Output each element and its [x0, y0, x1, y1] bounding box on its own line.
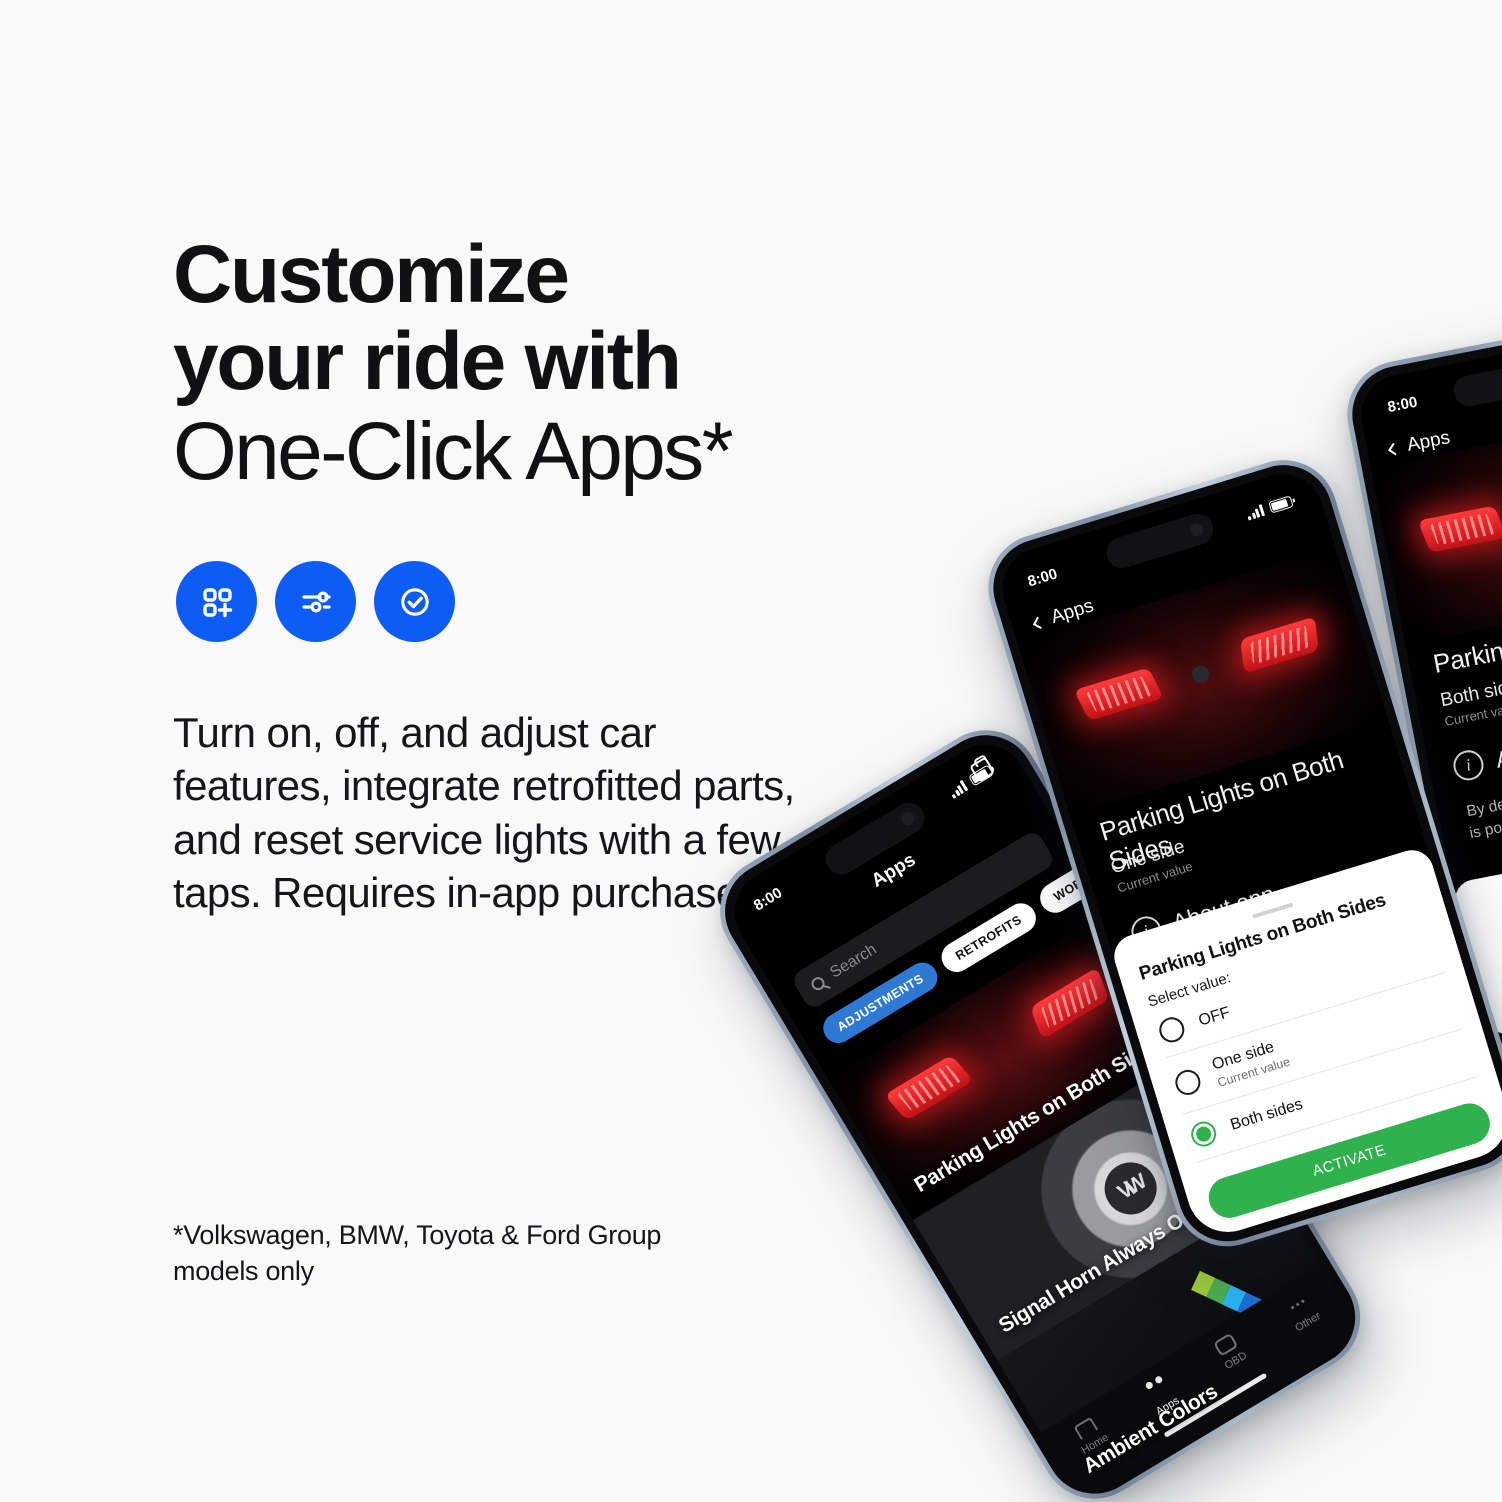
- apps-icon: [1143, 1375, 1170, 1402]
- page-title: Customize your ride with One-Click Apps*: [173, 232, 933, 498]
- status-time: 8:00: [1386, 393, 1419, 415]
- other-icon: [1283, 1290, 1310, 1317]
- hero-body-text: Turn on, off, and adjust car features, i…: [173, 706, 813, 919]
- headline-line-1: Customize: [173, 232, 933, 319]
- info-icon: i: [1451, 748, 1486, 783]
- select-value-sheet: Parking Lights on Both Sides Select valu…: [1109, 845, 1502, 1242]
- promo-canvas: Customize your ride with One-Click Apps*: [0, 0, 1502, 1502]
- option-label-both-sides: Both sides: [1228, 1095, 1304, 1133]
- chevron-left-icon: [1388, 442, 1400, 454]
- headline-line-3: One-Click Apps*: [173, 406, 933, 498]
- taillight-left: [1074, 668, 1164, 722]
- sliders-icon: [275, 561, 356, 642]
- sheet-grabber[interactable]: [1252, 903, 1293, 919]
- taillight-left: [1418, 506, 1502, 553]
- radio-off[interactable]: [1156, 1014, 1187, 1045]
- radio-both-sides[interactable]: [1188, 1118, 1219, 1149]
- status-time: 8:00: [1026, 565, 1060, 590]
- hero-copy: Customize your ride with One-Click Apps*: [173, 232, 933, 498]
- footnote-line-1: *Volkswagen, BMW, Toyota & Ford Group: [173, 1217, 773, 1253]
- radio-one-side[interactable]: [1172, 1066, 1203, 1097]
- chevron-left-icon: [1033, 616, 1045, 628]
- taillight-right: [1240, 617, 1319, 674]
- about-app-header: i About ap: [1451, 728, 1502, 783]
- check-circle-icon: [374, 561, 455, 642]
- signal-icon: [948, 780, 969, 799]
- about-app-title: About ap: [1493, 729, 1502, 773]
- done-label[interactable]: Done: [1492, 943, 1502, 1013]
- footnote-line-2: models only: [173, 1253, 773, 1289]
- footnote: *Volkswagen, BMW, Toyota & Ford Group mo…: [173, 1217, 773, 1289]
- feature-icon-row: [176, 561, 455, 642]
- status-indicators: [1245, 495, 1293, 520]
- option-label-off: OFF: [1196, 1004, 1232, 1030]
- signal-icon: [1245, 504, 1265, 520]
- search-icon: [809, 974, 827, 992]
- app-card-title: Wiper Menu in Head Unit: [1164, 1475, 1361, 1499]
- emblem: [1190, 664, 1211, 685]
- apps-add-icon: [176, 561, 257, 642]
- battery-icon: [1268, 495, 1294, 513]
- headline-line-2: your ride with: [173, 319, 933, 406]
- search-placeholder: Search: [827, 941, 880, 983]
